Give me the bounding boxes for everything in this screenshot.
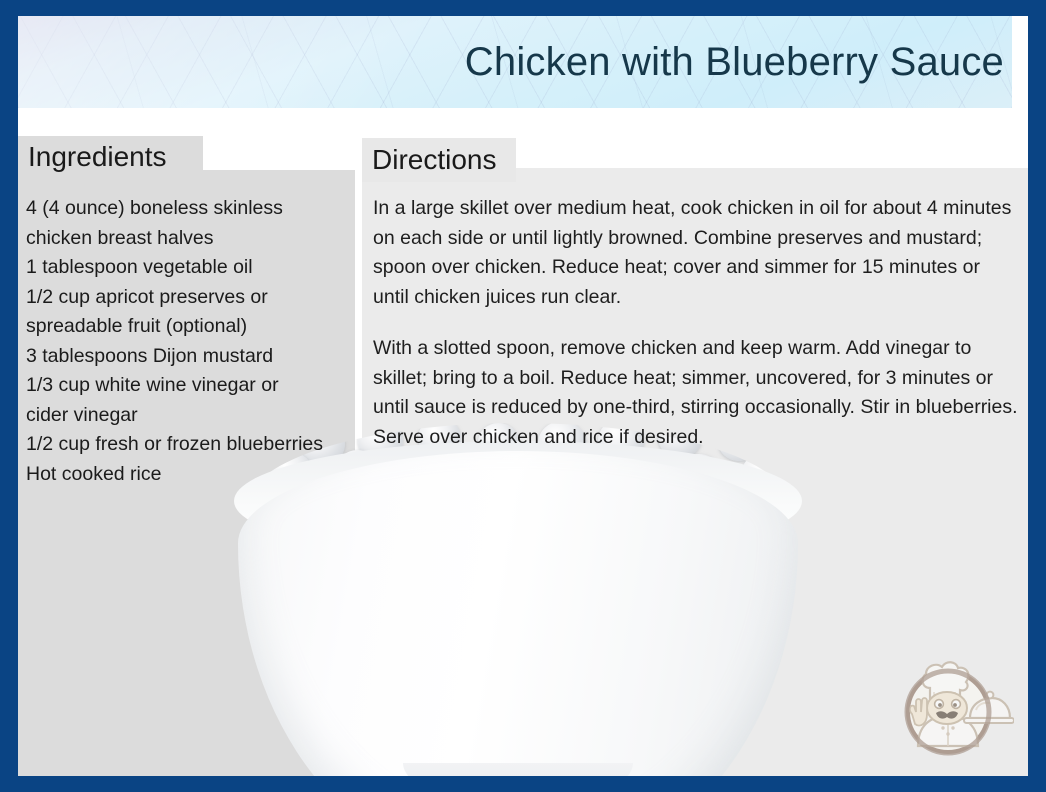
chef-face-icon [927, 692, 967, 724]
ingredients-list: 4 (4 ounce) boneless skinlesschicken bre… [26, 194, 374, 489]
title-banner: Chicken with Blueberry Sauce [18, 16, 1012, 108]
directions-body: In a large skillet over medium heat, coo… [373, 194, 1021, 452]
recipe-page: Chicken with Blueberry Sauce Ingredients… [18, 16, 1028, 776]
ingredient-line: chicken breast halves [26, 224, 374, 254]
directions-paragraph: In a large skillet over medium heat, coo… [373, 194, 1021, 312]
ingredients-heading: Ingredients [28, 141, 167, 173]
ingredient-line: 4 (4 ounce) boneless skinless [26, 194, 374, 224]
ingredient-line: 1/2 cup fresh or frozen blueberries [26, 430, 374, 460]
directions-paragraph: With a slotted spoon, remove chicken and… [373, 334, 1021, 452]
recipe-title: Chicken with Blueberry Sauce [465, 39, 1004, 85]
ingredient-line: 1 tablespoon vegetable oil [26, 253, 374, 283]
directions-header-tab: Directions [362, 138, 516, 182]
ingredient-line: Hot cooked rice [26, 460, 374, 490]
ingredient-line: 1/2 cup apricot preserves or [26, 283, 374, 313]
ingredient-line: 3 tablespoons Dijon mustard [26, 342, 374, 372]
ingredient-line: cider vinegar [26, 401, 374, 431]
recipe-card: Chicken with Blueberry Sauce Ingredients… [0, 0, 1046, 792]
ingredient-line: spreadable fruit (optional) [26, 312, 374, 342]
directions-heading: Directions [372, 144, 496, 176]
chef-logo [886, 642, 1014, 770]
ingredients-header-tab: Ingredients [18, 136, 203, 178]
ingredient-line: 1/3 cup white wine vinegar or [26, 371, 374, 401]
